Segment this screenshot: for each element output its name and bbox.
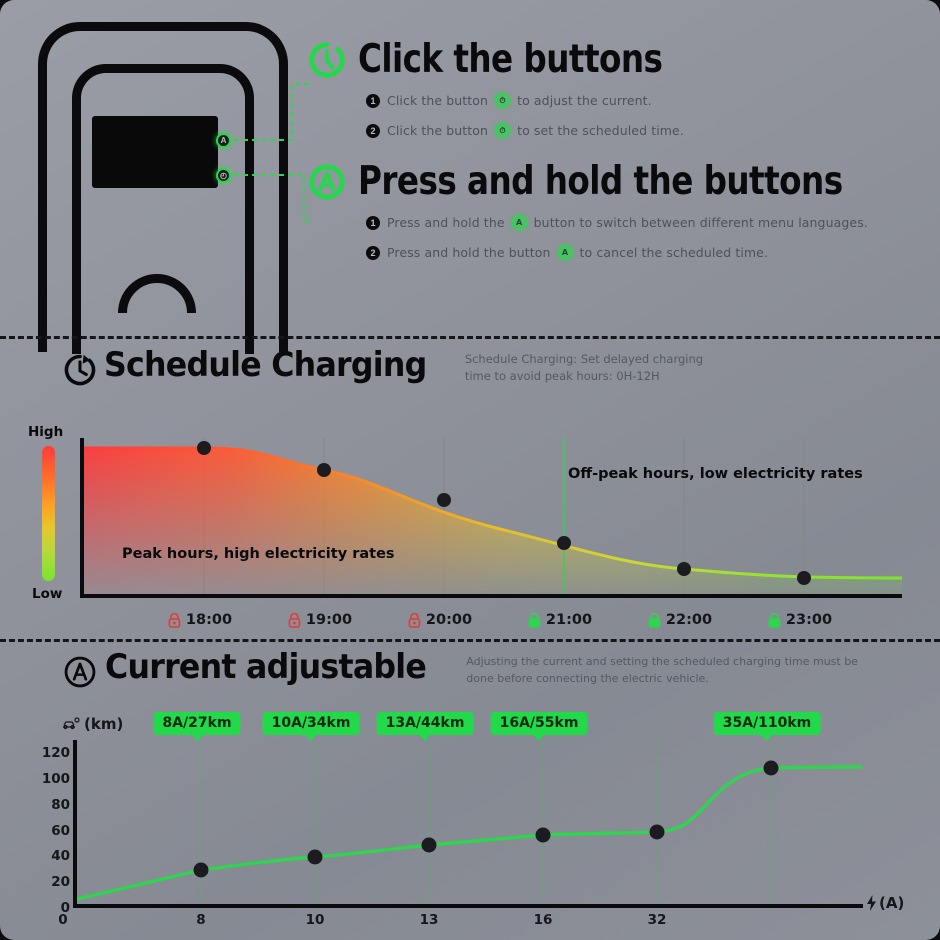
bullet-item: 2 Press and hold the button A to cancel … bbox=[366, 245, 920, 260]
lock-icon bbox=[288, 613, 301, 628]
schedule-charging-header: Schedule Charging Schedule Charging: Set… bbox=[0, 348, 940, 388]
current-plot-area: 0 20 40 60 80 100 120 0 8 10 13 16 32 bbox=[73, 740, 863, 908]
charger-display-screen bbox=[92, 116, 218, 188]
lock-icon bbox=[408, 613, 421, 628]
time-text: 21:00 bbox=[546, 612, 592, 628]
y-tick-60: 60 bbox=[51, 823, 70, 839]
schedule-charging-chart: High Low bbox=[0, 416, 940, 636]
bullet-number: 2 bbox=[366, 246, 380, 260]
time-text: 20:00 bbox=[426, 612, 472, 628]
y-tick-120: 120 bbox=[42, 745, 70, 761]
y-tick-20: 20 bbox=[51, 874, 70, 890]
heading2-bullets: 1 Press and hold the A button to switch … bbox=[308, 215, 920, 260]
schedule-charging-description: Schedule Charging: Set delayed charging … bbox=[465, 351, 715, 384]
schedule-plot-area: Peak hours, high electricity rates Off-p… bbox=[80, 438, 902, 598]
x-tick-10: 10 bbox=[306, 912, 325, 928]
section-schedule-charging: Schedule Charging Schedule Charging: Set… bbox=[0, 348, 940, 636]
device-timer-button-label: ◴ bbox=[220, 171, 227, 180]
lock-icon bbox=[768, 613, 781, 628]
badge-8a[interactable]: 8A/27km bbox=[153, 712, 240, 735]
bullet-item: 1 Press and hold the A button to switch … bbox=[366, 215, 920, 230]
schedule-charging-title: Schedule Charging bbox=[104, 348, 427, 382]
heading-press-and-hold: Press and hold the buttons bbox=[308, 162, 920, 201]
section-current-adjustable: Current adjustable Adjusting the current… bbox=[0, 650, 940, 940]
time-text: 18:00 bbox=[186, 612, 232, 628]
x-tick-16: 16 bbox=[534, 912, 553, 928]
bullet-text-before: Click the button bbox=[387, 123, 488, 138]
y-tick-80: 80 bbox=[51, 797, 70, 813]
circle-a-icon bbox=[62, 654, 98, 690]
current-adjustable-description: Adjusting the current and setting the sc… bbox=[466, 654, 866, 687]
time-label-23[interactable]: 23:00 bbox=[768, 612, 832, 628]
bullet-text-after: to set the scheduled time. bbox=[517, 123, 684, 138]
lightning-bolt-icon bbox=[866, 895, 877, 911]
section-divider-2 bbox=[0, 639, 940, 642]
device-current-button-label: A bbox=[221, 136, 227, 145]
badge-10a[interactable]: 10A/34km bbox=[263, 712, 360, 735]
bullet-number: 2 bbox=[366, 124, 380, 138]
lock-icon bbox=[648, 613, 661, 628]
current-adjustable-chart: (km) 0 20 40 60 80 100 120 0 8 10 13 16 … bbox=[0, 712, 940, 940]
range-curve-svg bbox=[77, 740, 863, 904]
lock-icon bbox=[528, 613, 541, 628]
device-timer-button[interactable]: ◴ bbox=[216, 168, 231, 183]
time-label-19[interactable]: 19:00 bbox=[288, 612, 352, 628]
badge-35a[interactable]: 35A/110km bbox=[714, 712, 821, 735]
heading2-text: Press and hold the buttons bbox=[358, 162, 843, 201]
bullet-text-after: to adjust the current. bbox=[517, 93, 652, 108]
time-text: 22:00 bbox=[666, 612, 712, 628]
x-tick-13: 13 bbox=[420, 912, 439, 928]
rate-gradient-legend bbox=[42, 446, 55, 581]
rate-curve-svg bbox=[84, 438, 902, 594]
annotation-offpeak-hours: Off-peak hours, low electricity rates bbox=[568, 466, 863, 482]
y-axis-unit-text: (km) bbox=[84, 715, 123, 733]
clock-arrow-icon bbox=[62, 352, 98, 388]
bullet-text-after: to cancel the scheduled time. bbox=[580, 245, 769, 260]
circle-a-button-icon: A bbox=[558, 245, 573, 260]
legend-low-label: Low bbox=[32, 586, 62, 602]
bullet-number: 1 bbox=[366, 216, 380, 230]
device-current-button[interactable]: A bbox=[216, 133, 231, 148]
x-tick-32: 32 bbox=[648, 912, 667, 928]
circle-a-button-icon: A bbox=[512, 215, 527, 230]
timer-clock-icon bbox=[308, 41, 346, 79]
infographic-page: A ◴ Click the buttons 1 Click the button bbox=[0, 0, 940, 940]
time-label-21[interactable]: 21:00 bbox=[528, 612, 592, 628]
time-text: 23:00 bbox=[786, 612, 832, 628]
current-adjustable-header: Current adjustable Adjusting the current… bbox=[0, 650, 940, 690]
time-label-22[interactable]: 22:00 bbox=[648, 612, 712, 628]
heading1-text: Click the buttons bbox=[358, 40, 662, 79]
heading-click-the-buttons: Click the buttons bbox=[308, 40, 920, 79]
x-tick-0: 0 bbox=[58, 912, 67, 928]
time-label-18[interactable]: 18:00 bbox=[168, 612, 232, 628]
x-axis-unit-label: (A) bbox=[866, 894, 904, 912]
heading1-bullets: 1 Click the button ⏱ to adjust the curre… bbox=[308, 93, 920, 138]
time-label-20[interactable]: 20:00 bbox=[408, 612, 472, 628]
bullet-text-before: Press and hold the bbox=[387, 215, 505, 230]
car-range-icon bbox=[62, 717, 80, 731]
bullet-item: 2 Click the button ⏱ to set the schedule… bbox=[366, 123, 920, 138]
schedule-time-axis: 18:00 19:00 20:00 21:00 22:00 bbox=[80, 612, 902, 638]
timer-button-icon: ⏱ bbox=[495, 123, 510, 138]
bullet-item: 1 Click the button ⏱ to adjust the curre… bbox=[366, 93, 920, 108]
y-tick-40: 40 bbox=[51, 848, 70, 864]
section1-text: Click the buttons 1 Click the button ⏱ t… bbox=[308, 40, 920, 275]
charger-illustration: A ◴ bbox=[20, 16, 310, 328]
bullet-text-after: button to switch between different menu … bbox=[534, 215, 868, 230]
x-axis-unit-text: (A) bbox=[879, 894, 904, 912]
bullet-text-before: Press and hold the button bbox=[387, 245, 551, 260]
circle-a-icon bbox=[308, 163, 346, 201]
bullet-text-before: Click the button bbox=[387, 93, 488, 108]
y-tick-100: 100 bbox=[42, 771, 70, 787]
y-axis-unit-label: (km) bbox=[62, 715, 123, 733]
badge-16a[interactable]: 16A/55km bbox=[491, 712, 588, 735]
timer-button-icon: ⏱ bbox=[495, 93, 510, 108]
current-adjustable-title: Current adjustable bbox=[105, 650, 426, 684]
bullet-number: 1 bbox=[366, 94, 380, 108]
time-text: 19:00 bbox=[306, 612, 352, 628]
badge-13a[interactable]: 13A/44km bbox=[377, 712, 474, 735]
section-divider-1 bbox=[0, 336, 940, 339]
lock-icon bbox=[168, 613, 181, 628]
annotation-peak-hours: Peak hours, high electricity rates bbox=[122, 546, 395, 562]
legend-high-label: High bbox=[28, 424, 63, 440]
x-tick-8: 8 bbox=[196, 912, 205, 928]
